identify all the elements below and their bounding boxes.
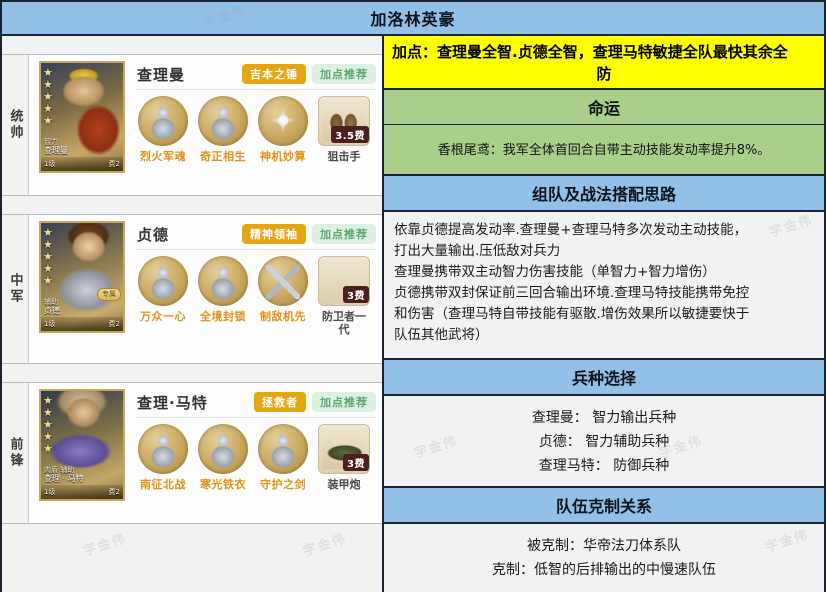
hero-portrait-name-2: 贞德 [44, 305, 60, 316]
hero-portrait-footer-3: 1级 费2 [41, 485, 123, 499]
equipment-cost-badge: 3.5费 [331, 126, 369, 143]
troops-body: 查理曼： 智力输出兵种 贞德： 智力辅助兵种 查理马特： 防御兵种 字金伟 字金… [384, 396, 824, 488]
lineup-top-spacer: 字金伟 [2, 36, 382, 54]
strategy-heading: 组队及战法搭配思路 [384, 176, 824, 212]
equipment-item-1[interactable]: 3.5费 狙击手 [317, 96, 371, 163]
tactic-label: 全境封锁 [200, 310, 246, 323]
hero-level-3: 1级 [44, 487, 55, 497]
hero-cost-1: 费2 [109, 159, 120, 169]
counter-heading: 队伍克制关系 [384, 488, 824, 524]
page-title: 加洛林英豪 [2, 2, 824, 36]
troops-line: 贞德： 智力辅助兵种 [394, 430, 814, 454]
tactic-icon [138, 256, 188, 306]
hero-level-2: 1级 [44, 319, 55, 329]
exclusive-badge-2: 专属 [97, 288, 121, 301]
tactic-item[interactable]: 南征北战 [137, 424, 189, 491]
hero-card-2[interactable]: 中军 ★★★★★ 专属 辅助 贞德 1级 费2 [2, 214, 382, 364]
content-body: 字金伟 统帅 ★★★★★ 智力 查理曼 1级 费2 [2, 36, 824, 592]
guide-page: 加洛林英豪 字金伟 统帅 ★★★★★ 智力 查理曼 [0, 0, 826, 592]
hero-rec-badge-2[interactable]: 加点推荐 [312, 224, 376, 244]
hero-cost-2: 费2 [109, 319, 120, 329]
equipment-item-2[interactable]: 3费 防卫者一代 [317, 256, 371, 336]
hero-position-3: 前锋 [2, 383, 29, 523]
equipment-label: 防卫者一代 [317, 310, 371, 336]
strategy-line: 依靠贞德提高发动率.查理曼+查理马特多次发动主动技能， [394, 220, 814, 241]
fate-heading: 命运 [384, 90, 824, 125]
equipment-icon: 3费 [318, 424, 370, 474]
divider [137, 249, 376, 250]
counter-line: 克制：低智的后排输出的中慢速队伍 [394, 558, 814, 582]
tactic-label: 守护之剑 [260, 478, 306, 491]
strategy-body: 依靠贞德提高发动率.查理曼+查理马特多次发动主动技能， 打出大量输出.压低敌对兵… [384, 212, 824, 360]
troops-line: 查理曼： 智力输出兵种 [394, 406, 814, 430]
hero-portrait-3[interactable]: ★★★★★ 肉盾 辅助 查理 · 马特 1级 费2 [39, 389, 125, 501]
points-text: 查理曼全智.贞德全智，查理马特敏捷全队最快其余全 [437, 43, 788, 61]
tactic-icon [138, 96, 188, 146]
equipment-cost-badge: 3费 [343, 286, 369, 303]
strategy-line: 队伍其他武将） [394, 325, 814, 346]
tactic-icon [198, 256, 248, 306]
equipment-cost-badge: 3费 [343, 454, 369, 471]
watermark: 字金伟 [300, 528, 349, 560]
tactic-label: 万众一心 [140, 310, 186, 323]
fate-body: 香根尾鸢：我军全体首回合自带主动技能发动率提升8%。 [384, 125, 824, 176]
tactic-item[interactable]: 制敌机先 [257, 256, 309, 323]
points-section: 加点：查理曼全智.贞德全智，查理马特敏捷全队最快其余全 防 [384, 36, 824, 90]
star-rating-2: ★★★★★ [43, 227, 53, 286]
tactic-icon [258, 256, 308, 306]
tactic-item[interactable]: 奇正相生 [197, 96, 249, 163]
strategy-line: 和伤害（查理马特自带技能有驱散.增伤效果所以敏捷要快于 [394, 304, 814, 325]
hero-card-3[interactable]: 前锋 ★★★★★ 肉盾 辅助 查理 · 马特 1级 费2 [2, 382, 382, 524]
strategy-line: 打出大量输出.压低敌对兵力 [394, 241, 814, 262]
strategy-line: 贞德携带双封保证前三回合输出环境.查理马特技能携带免控 [394, 283, 814, 304]
divider [137, 417, 376, 418]
tactic-item[interactable]: 神机妙算 [257, 96, 309, 163]
hero-portrait-1[interactable]: ★★★★★ 智力 查理曼 1级 费2 [39, 61, 125, 173]
equipment-icon: 3费 [318, 256, 370, 306]
page-title-text: 加洛林英豪 [370, 6, 455, 30]
tactic-item[interactable]: 万众一心 [137, 256, 189, 323]
tactic-item[interactable]: 寒光铁衣 [197, 424, 249, 491]
hero-name-3: 查理·马特 [137, 392, 254, 413]
points-text-tail: 防 [392, 63, 816, 85]
points-label: 加点： [392, 43, 437, 61]
hero-portrait-footer-2: 1级 费2 [41, 317, 123, 331]
tactic-item[interactable]: 烈火军魂 [137, 96, 189, 163]
hero-name-2: 贞德 [137, 224, 242, 245]
equipment-label: 狙击手 [328, 150, 361, 163]
equipment-label: 装甲炮 [328, 478, 361, 491]
tactic-label: 制敌机先 [260, 310, 306, 323]
tactic-label: 寒光铁衣 [200, 478, 246, 491]
equipment-item-3[interactable]: 3费 装甲炮 [317, 424, 371, 491]
watermark: 字金伟 [80, 528, 129, 560]
hero-title-badge-2: 精神领袖 [242, 224, 306, 244]
counter-line: 被克制：华帝法刀体系队 [394, 534, 814, 558]
counter-body: 被克制：华帝法刀体系队 克制：低智的后排输出的中慢速队伍 字金伟 [384, 524, 824, 592]
troops-line: 查理马特： 防御兵种 [394, 454, 814, 478]
star-rating-1: ★★★★★ [43, 67, 53, 126]
lineup-spacer-2 [2, 364, 382, 382]
team-lineup-column: 字金伟 统帅 ★★★★★ 智力 查理曼 1级 费2 [2, 36, 384, 592]
hero-cost-3: 费2 [109, 487, 120, 497]
tactic-item[interactable]: 守护之剑 [257, 424, 309, 491]
tactic-icon [198, 424, 248, 474]
star-rating-3: ★★★★★ [43, 395, 53, 454]
tactic-icon [198, 96, 248, 146]
hero-title-badge-3: 拯救者 [254, 392, 306, 412]
tactic-list-3: 南征北战 寒光铁衣 守护之剑 [137, 422, 376, 491]
hero-title-badge-1: 吉本之锤 [242, 64, 306, 84]
tactic-label: 南征北战 [140, 478, 186, 491]
hero-position-2: 中军 [2, 215, 29, 363]
hero-rec-badge-3[interactable]: 加点推荐 [312, 392, 376, 412]
troops-heading: 兵种选择 [384, 360, 824, 396]
lineup-bottom-spacer: 字金伟 字金伟 [2, 524, 382, 592]
tactic-label: 烈火军魂 [140, 150, 186, 163]
tactic-list-2: 万众一心 全境封锁 制敌机先 [137, 254, 376, 336]
lineup-spacer-1 [2, 196, 382, 214]
tactic-item[interactable]: 全境封锁 [197, 256, 249, 323]
hero-portrait-footer-1: 1级 费2 [41, 157, 123, 171]
tactic-list-1: 烈火军魂 奇正相生 神机妙算 [137, 94, 376, 163]
tactic-icon [258, 96, 308, 146]
divider [137, 89, 376, 90]
hero-portrait-name-1: 查理曼 [44, 145, 68, 156]
info-panel-column: 加点：查理曼全智.贞德全智，查理马特敏捷全队最快其余全 防 命运 香根尾鸢：我军… [384, 36, 824, 592]
tactic-label: 奇正相生 [200, 150, 246, 163]
hero-name-1: 查理曼 [137, 64, 242, 85]
tactic-icon [258, 424, 308, 474]
equipment-icon: 3.5费 [318, 96, 370, 146]
hero-portrait-2[interactable]: ★★★★★ 专属 辅助 贞德 1级 费2 [39, 221, 125, 333]
hero-card-1[interactable]: 统帅 ★★★★★ 智力 查理曼 1级 费2 [2, 54, 382, 196]
tactic-label: 神机妙算 [260, 150, 306, 163]
strategy-line: 查理曼携带双主动智力伤害技能（单智力+智力增伤） [394, 262, 814, 283]
hero-position-1: 统帅 [2, 55, 29, 195]
hero-rec-badge-1[interactable]: 加点推荐 [312, 64, 376, 84]
tactic-icon [138, 424, 188, 474]
hero-level-1: 1级 [44, 159, 55, 169]
hero-portrait-name-3: 查理 · 马特 [44, 473, 84, 484]
